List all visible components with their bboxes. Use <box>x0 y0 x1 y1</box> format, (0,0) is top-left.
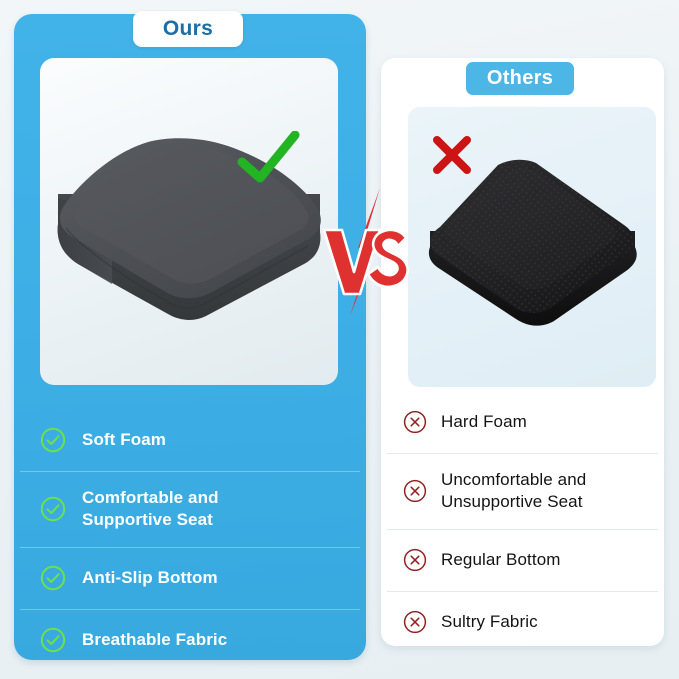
feature-line: Comfortable and <box>82 487 219 509</box>
ours-product-photo <box>40 58 338 385</box>
feature-line: Hard Foam <box>441 411 527 433</box>
feature-text: Soft Foam <box>82 429 166 451</box>
list-item: Regular Bottom <box>381 529 664 591</box>
feature-text: Hard Foam <box>441 411 527 433</box>
feature-line: Soft Foam <box>82 429 166 451</box>
cross-circle-icon <box>403 410 427 434</box>
check-circle-icon <box>40 427 66 453</box>
feature-line: Breathable Fabric <box>82 629 227 651</box>
check-circle-icon <box>40 627 66 653</box>
ours-panel: Soft Foam Comfortable and Supportive Sea… <box>14 14 366 660</box>
list-item: Comfortable and Supportive Seat <box>14 471 366 547</box>
feature-text: Breathable Fabric <box>82 629 227 651</box>
green-check-icon <box>237 131 301 187</box>
list-item: Soft Foam <box>14 409 366 471</box>
tab-ours[interactable]: Ours <box>133 11 243 47</box>
list-item: Hard Foam <box>381 391 664 453</box>
check-circle-icon <box>40 496 66 522</box>
tab-ours-label: Ours <box>163 17 213 41</box>
ours-feature-list: Soft Foam Comfortable and Supportive Sea… <box>14 409 366 671</box>
list-item: Breathable Fabric <box>14 609 366 671</box>
list-item: Sultry Fabric <box>381 591 664 653</box>
others-product-photo <box>408 107 656 387</box>
cross-circle-icon <box>403 479 427 503</box>
check-circle-icon <box>40 565 66 591</box>
cross-circle-icon <box>403 548 427 572</box>
cross-circle-icon <box>403 610 427 634</box>
list-item: Uncomfortable and Unsupportive Seat <box>381 453 664 529</box>
feature-line: Uncomfortable and <box>441 469 586 491</box>
feature-line: Anti-Slip Bottom <box>82 567 218 589</box>
vs-lightning-badge-icon <box>318 186 414 318</box>
feature-line: Sultry Fabric <box>441 611 538 633</box>
red-cross-icon <box>430 133 474 177</box>
others-feature-list: Hard Foam Uncomfortable and Unsupportive… <box>381 391 664 653</box>
feature-text: Regular Bottom <box>441 549 561 571</box>
feature-line: Supportive Seat <box>82 509 219 531</box>
comparison-infographic: Soft Foam Comfortable and Supportive Sea… <box>0 0 679 679</box>
feature-text: Comfortable and Supportive Seat <box>82 487 219 531</box>
feature-text: Uncomfortable and Unsupportive Seat <box>441 469 586 513</box>
feature-text: Sultry Fabric <box>441 611 538 633</box>
feature-text: Anti-Slip Bottom <box>82 567 218 589</box>
tab-others-label: Others <box>487 67 553 90</box>
list-item: Anti-Slip Bottom <box>14 547 366 609</box>
others-panel: Hard Foam Uncomfortable and Unsupportive… <box>381 58 664 646</box>
tab-others[interactable]: Others <box>466 62 574 95</box>
feature-line: Regular Bottom <box>441 549 561 571</box>
feature-line: Unsupportive Seat <box>441 491 586 513</box>
